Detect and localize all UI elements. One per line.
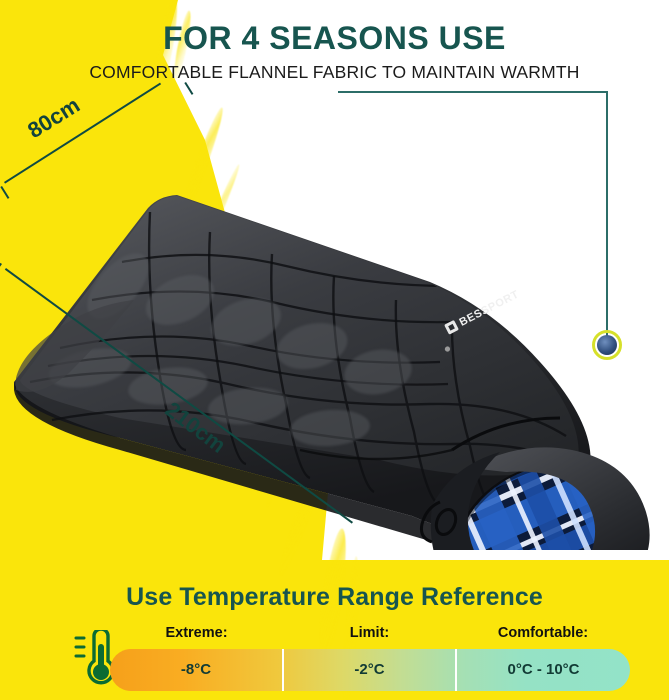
zone-label-extreme: Extreme: [110,625,283,641]
temperature-zone-labels: Extreme: Limit: Comfortable: [110,625,630,645]
product-image-sleeping-bag: BESSPORT [0,150,669,550]
zone-label-limit: Limit: [283,625,456,641]
zone-value-limit: -2°C [284,649,455,691]
page-subheadline: COMFORTABLE FLANNEL FABRIC TO MAINTAIN W… [0,62,669,83]
dimension-tick-width-end [185,82,194,95]
zone-value-comfortable: 0°C - 10°C [457,649,630,691]
zone-value-extreme: -8°C [110,649,282,691]
page-headline: FOR 4 SEASONS USE [0,20,669,57]
infographic-canvas: FOR 4 SEASONS USE COMFORTABLE FLANNEL FA… [0,0,669,700]
temperature-zones: Extreme: Limit: Comfortable: -8°C -2°C 0… [110,625,630,695]
zipper-marker-ring [592,330,622,360]
temperature-section-title: Use Temperature Range Reference [0,583,669,612]
zone-label-comfortable: Comfortable: [456,625,630,641]
callout-line-horizontal [338,91,608,93]
